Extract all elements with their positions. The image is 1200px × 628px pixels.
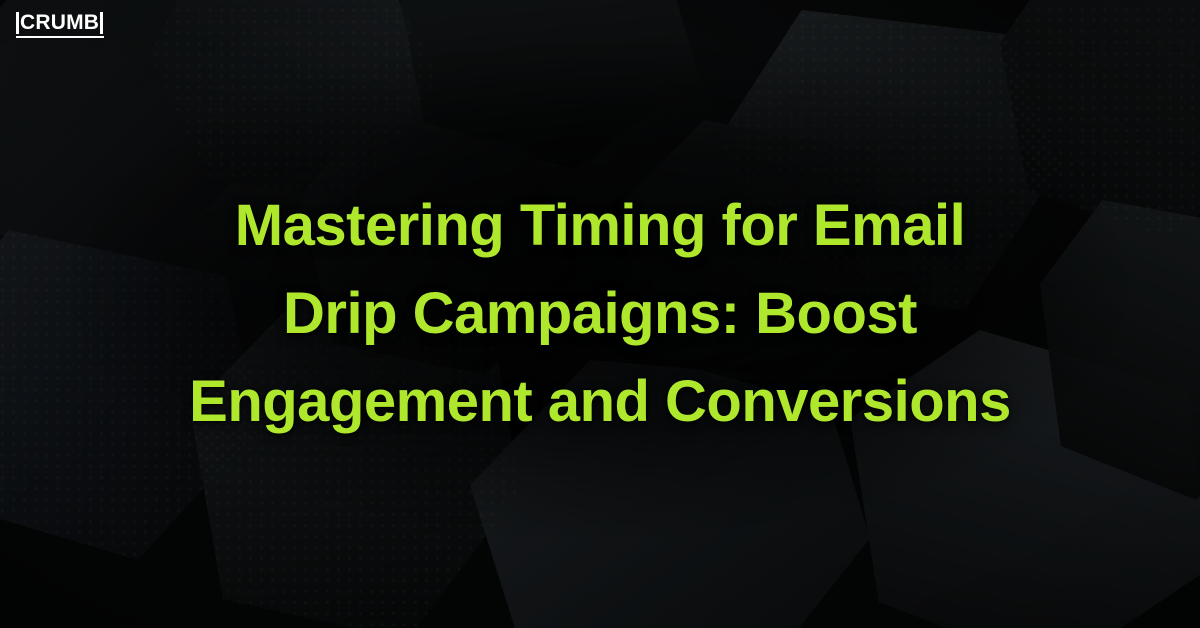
logo-underline (16, 36, 104, 38)
headline-line-1: Mastering Timing for Email (235, 182, 965, 270)
logo-wordmark: CRUMB (20, 12, 99, 34)
logo-row: CRUMB (16, 12, 103, 34)
logo-right-bracket-icon (100, 12, 103, 34)
hero-banner: CRUMB Mastering Timing for Email Drip Ca… (0, 0, 1200, 628)
headline-line-3: Engagement and Conversions (189, 358, 1011, 446)
headline-line-2: Drip Campaigns: Boost (283, 270, 917, 358)
headline-block: Mastering Timing for Email Drip Campaign… (0, 0, 1200, 628)
brand-logo[interactable]: CRUMB (16, 12, 104, 38)
logo-left-bracket-icon (16, 12, 19, 34)
